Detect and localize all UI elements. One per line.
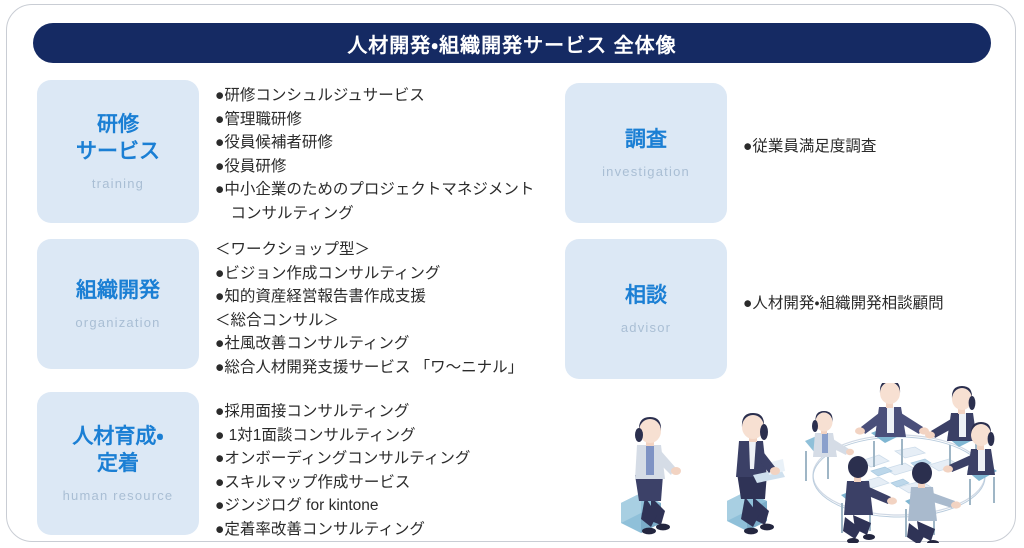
card-training-title: 研修 サービス — [76, 112, 160, 166]
card-investigation[interactable]: 調査 investigation — [565, 83, 727, 223]
diagram-frame: 人材開発・組織開発サービス 全体像 研修 サービス training 組織開発 … — [6, 4, 1016, 542]
card-organization-subtitle: organization — [75, 315, 160, 330]
card-advisor-subtitle: advisor — [621, 320, 671, 335]
page-title: 人材開発・組織開発サービス 全体像 — [347, 29, 676, 58]
service-list-training: ●研修コンシュルジュサービス ●管理職研修 ●役員候補者研修 ●役員研修 ●中小… — [215, 84, 560, 225]
card-training-subtitle: training — [92, 176, 144, 191]
card-human-resource-subtitle: human resource — [63, 488, 174, 503]
service-list-investigation: ●従業員満足度調査 — [743, 135, 993, 159]
service-list-advisor: ●人材開発・組織開発相談顧問 — [743, 292, 993, 316]
card-human-resource[interactable]: 人材育成・ 定着 human resource — [37, 392, 199, 535]
card-investigation-title: 調査 — [625, 127, 667, 154]
card-advisor-title: 相談 — [625, 283, 667, 310]
card-advisor[interactable]: 相談 advisor — [565, 239, 727, 379]
service-list-organization: ＜ワークショップ型＞ ●ビジョン作成コンサルティング ●知的資産経営報告書作成支… — [215, 238, 560, 379]
header-banner: 人材開発・組織開発サービス 全体像 — [33, 23, 991, 63]
card-training[interactable]: 研修 サービス training — [37, 80, 199, 223]
service-list-human-resource: ●採用面接コンサルティング ● 1対1面談コンサルティング ●オンボーディングコ… — [215, 400, 545, 541]
card-investigation-subtitle: investigation — [602, 164, 690, 179]
business-meeting-illustration — [603, 383, 1003, 543]
card-human-resource-title: 人材育成・ 定着 — [72, 424, 163, 478]
card-organization-title: 組織開発 — [76, 278, 160, 305]
card-organization[interactable]: 組織開発 organization — [37, 239, 199, 369]
